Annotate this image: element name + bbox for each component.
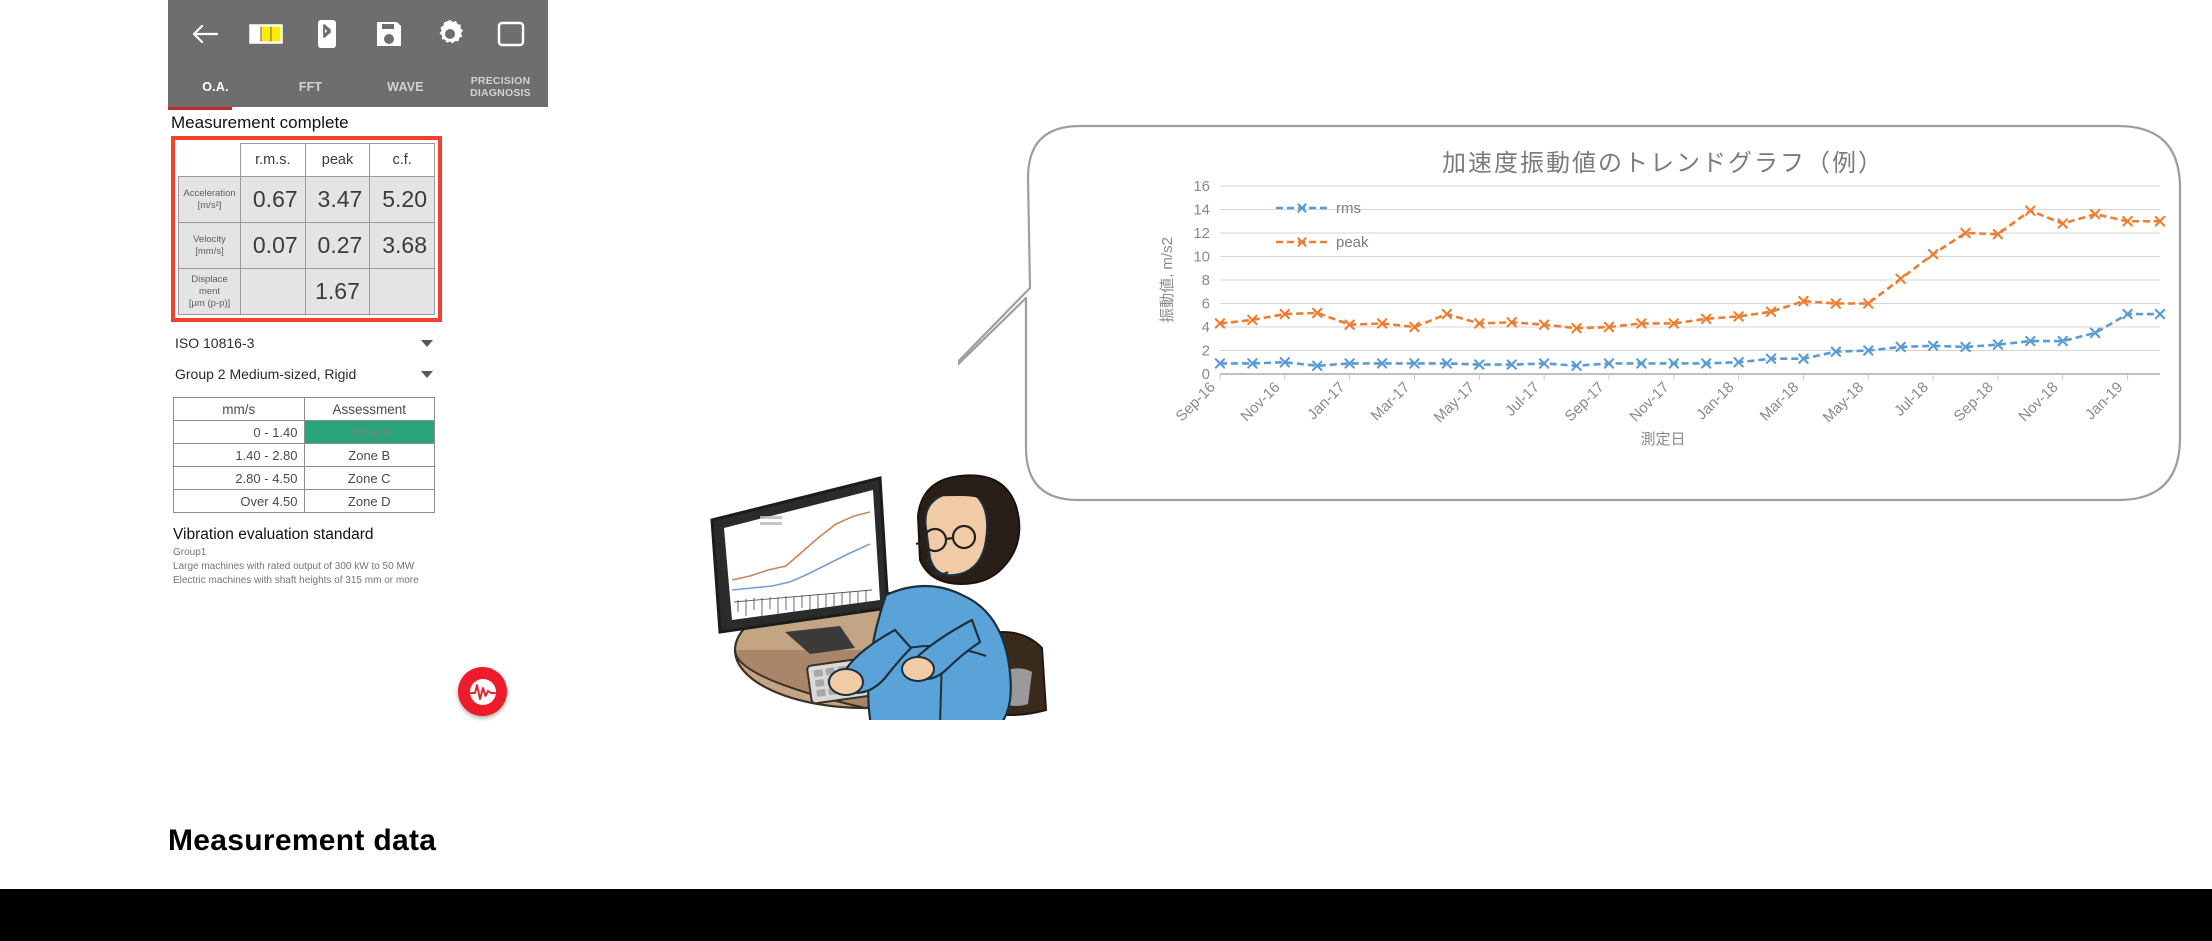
table-row: Velocity [mm/s] 0.07 0.27 3.68 xyxy=(179,223,435,269)
standard-section-title: Vibration evaluation standard xyxy=(173,526,548,544)
y-tick-label: 14 xyxy=(1193,202,1210,219)
results-header-row: r.m.s. peak c.f. xyxy=(179,144,435,177)
x-tick-label: Sep-18 xyxy=(1951,379,1997,425)
table-row: 0 - 1.40 Zone A xyxy=(174,421,435,444)
y-tick-label: 16 xyxy=(1193,178,1210,195)
chevron-down-icon xyxy=(421,371,433,378)
standard-select[interactable]: ISO 10816-3 xyxy=(173,333,437,353)
page-title: Measurement data xyxy=(168,824,436,858)
page-root: O.A. FFT WAVE PRECISION DIAGNOSIS Measur… xyxy=(0,0,2212,941)
table-row: Displace ment [µm (p-p)] 1.67 xyxy=(179,269,435,315)
phone-app-panel: O.A. FFT WAVE PRECISION DIAGNOSIS Measur… xyxy=(168,0,548,588)
row-label-acceleration-line1: Acceleration xyxy=(183,188,235,199)
x-tick-label: Jul-17 xyxy=(1502,379,1543,420)
zone-a-range: 0 - 1.40 xyxy=(174,421,305,444)
x-tick-label: Jul-18 xyxy=(1891,379,1932,420)
chart-plot: 0246810121416Sep-16Nov-16Jan-17Mar-17May… xyxy=(1158,178,2168,438)
x-tick-label: Nov-17 xyxy=(1626,379,1672,425)
bluetooth-icon[interactable] xyxy=(304,11,350,57)
row-label-displacement-line3: [µm (p-p)] xyxy=(189,298,230,309)
zone-col-assessment: Assessment xyxy=(304,398,435,421)
x-tick-label: Jan-17 xyxy=(1304,379,1348,423)
table-row: 2.80 - 4.50 Zone C xyxy=(174,467,435,490)
zone-a-label: Zone A xyxy=(304,421,435,444)
x-tick-label: May-18 xyxy=(1820,379,1867,426)
velocity-peak-value: 0.27 xyxy=(305,223,370,269)
tab-precision-diagnosis[interactable]: PRECISION DIAGNOSIS xyxy=(453,75,548,99)
waveform-fab-button[interactable] xyxy=(458,667,507,716)
zone-c-range: 2.80 - 4.50 xyxy=(174,467,305,490)
tab-precision-line1: PRECISION xyxy=(471,75,531,87)
x-tick-label: Sep-16 xyxy=(1173,379,1219,425)
tab-fft[interactable]: FFT xyxy=(263,81,358,93)
chart-ylabel: 振動値, m/s2 xyxy=(1159,237,1176,323)
results-col-peak: peak xyxy=(305,144,370,177)
row-label-acceleration-line2: [m/s²] xyxy=(198,200,222,211)
app-tab-bar: O.A. FFT WAVE PRECISION DIAGNOSIS xyxy=(168,67,548,107)
status-text: Measurement complete xyxy=(171,113,548,133)
zone-d-range: Over 4.50 xyxy=(174,490,305,513)
bottom-black-bar xyxy=(0,889,2212,941)
results-col-cf: c.f. xyxy=(370,144,435,177)
x-tick-label: Jan-19 xyxy=(2082,379,2126,423)
velocity-cf-value: 3.68 xyxy=(370,223,435,269)
standard-group: Group1 xyxy=(173,546,548,560)
x-tick-label: May-17 xyxy=(1431,379,1478,426)
row-label-acceleration: Acceleration [m/s²] xyxy=(179,177,241,223)
results-corner-cell xyxy=(179,144,241,177)
group-select[interactable]: Group 2 Medium-sized, Rigid xyxy=(173,364,437,384)
x-tick-label: Nov-16 xyxy=(1237,379,1283,425)
accel-rms-value: 0.67 xyxy=(241,177,306,223)
group-select-value: Group 2 Medium-sized, Rigid xyxy=(175,366,356,382)
zone-b-label: Zone B xyxy=(304,444,435,467)
chevron-down-icon xyxy=(421,340,433,347)
standard-line1: Large machines with rated output of 300 … xyxy=(173,560,548,574)
disp-cf-value xyxy=(370,269,435,315)
legend-label: rms xyxy=(1336,200,1361,217)
chart-title: 加速度振動値のトレンドグラフ（例） xyxy=(1158,143,2168,178)
disp-peak-value: 1.67 xyxy=(305,269,370,315)
zone-table: mm/s Assessment 0 - 1.40 Zone A 1.40 - 2… xyxy=(173,397,435,513)
waveform-icon xyxy=(468,677,498,707)
results-table-highlight-frame: r.m.s. peak c.f. Acceleration [m/s²] 0.6… xyxy=(171,136,442,322)
active-tab-indicator xyxy=(168,107,232,110)
zone-c-label: Zone C xyxy=(304,467,435,490)
zone-col-mms: mm/s xyxy=(174,398,305,421)
y-tick-label: 8 xyxy=(1202,272,1210,289)
x-tick-label: Jan-18 xyxy=(1693,379,1737,423)
accel-peak-value: 3.47 xyxy=(305,177,370,223)
velocity-rms-value: 0.07 xyxy=(241,223,306,269)
back-arrow-icon[interactable] xyxy=(182,11,228,57)
trend-chart: 加速度振動値のトレンドグラフ（例） 0246810121416Sep-16Nov… xyxy=(1158,128,2168,498)
zone-d-label: Zone D xyxy=(304,490,435,513)
results-col-rms: r.m.s. xyxy=(241,144,306,177)
results-table: r.m.s. peak c.f. Acceleration [m/s²] 0.6… xyxy=(178,143,435,315)
tab-oa[interactable]: O.A. xyxy=(168,81,263,93)
table-row: Acceleration [m/s²] 0.67 3.47 5.20 xyxy=(179,177,435,223)
save-icon[interactable] xyxy=(366,11,412,57)
legend-label: peak xyxy=(1336,234,1369,251)
zone-header-row: mm/s Assessment xyxy=(174,398,435,421)
x-tick-label: Sep-17 xyxy=(1562,379,1608,425)
chart-xlabel: 測定日 xyxy=(1158,428,2168,449)
row-label-velocity-line2: [mm/s] xyxy=(195,246,224,257)
row-label-displacement-line1: Displace xyxy=(191,274,227,285)
standard-select-value: ISO 10816-3 xyxy=(175,335,254,351)
y-tick-label: 4 xyxy=(1202,319,1210,336)
table-row: Over 4.50 Zone D xyxy=(174,490,435,513)
row-label-displacement: Displace ment [µm (p-p)] xyxy=(179,269,241,315)
x-tick-label: Mar-17 xyxy=(1368,379,1414,425)
row-label-velocity-line1: Velocity xyxy=(193,234,226,245)
standard-line2: Electric machines with shaft heights of … xyxy=(173,574,548,588)
stop-square-icon[interactable] xyxy=(488,11,534,57)
zone-b-range: 1.40 - 2.80 xyxy=(174,444,305,467)
disp-rms-value xyxy=(241,269,306,315)
table-row: 1.40 - 2.80 Zone B xyxy=(174,444,435,467)
app-toolbar xyxy=(168,0,548,67)
tab-wave[interactable]: WAVE xyxy=(358,81,453,93)
x-tick-label: Nov-18 xyxy=(2015,379,2061,425)
gear-icon[interactable] xyxy=(427,11,473,57)
x-tick-label: Mar-18 xyxy=(1757,379,1803,425)
y-tick-label: 12 xyxy=(1193,225,1210,242)
row-label-displacement-line2: ment xyxy=(199,286,220,297)
tab-precision-line2: DIAGNOSIS xyxy=(470,87,531,99)
y-tick-label: 2 xyxy=(1202,343,1210,360)
y-tick-label: 6 xyxy=(1202,296,1210,313)
accel-cf-value: 5.20 xyxy=(370,177,435,223)
battery-icon xyxy=(243,11,289,57)
y-tick-label: 10 xyxy=(1193,249,1210,266)
row-label-velocity: Velocity [mm/s] xyxy=(179,223,241,269)
